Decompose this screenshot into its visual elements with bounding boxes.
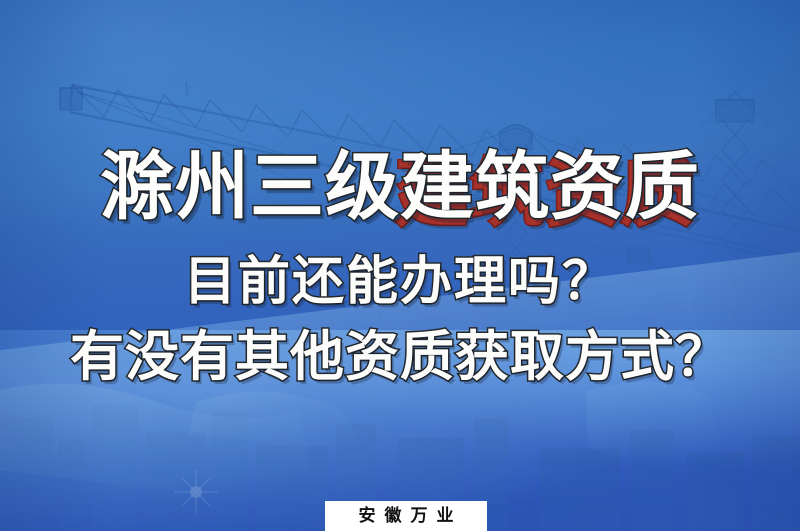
headline-line-1-red-segment: 建筑资质建筑资质	[400, 150, 700, 224]
poster-banner: 滁州三级建筑资质建筑资质 目前还能办理吗？ 有没有其他资质获取方式？ 安徽万业	[0, 0, 800, 531]
brand-bar: 安徽万业	[325, 501, 487, 531]
headline-block: 滁州三级建筑资质建筑资质 目前还能办理吗？ 有没有其他资质获取方式？	[0, 150, 800, 384]
brand-name: 安徽万业	[350, 508, 463, 525]
headline-line-1-red-top-layer: 建筑资质	[400, 144, 700, 230]
headline-line-1-white-segment: 滁州三级	[100, 150, 400, 224]
headline-line-1: 滁州三级建筑资质建筑资质	[0, 150, 800, 234]
headline-line-3: 有没有其他资质获取方式？	[0, 330, 800, 384]
headline-line-2: 目前还能办理吗？	[0, 256, 800, 308]
